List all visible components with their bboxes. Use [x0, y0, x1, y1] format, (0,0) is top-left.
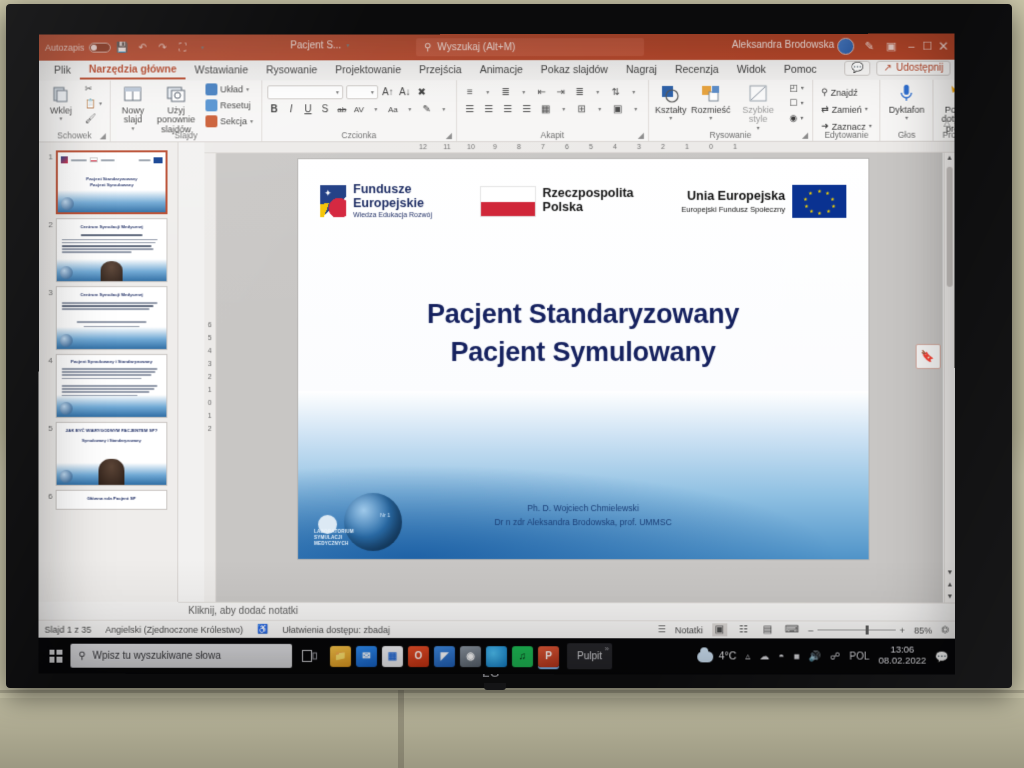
line-spacing-icon[interactable]: ≣ [572, 86, 588, 99]
rysowanie-dialog-launcher-icon[interactable]: ◢ [802, 131, 808, 140]
system-tray: 4°C ▵ ☁ ◓ ■ 🔊 ☍ POL 13:06 08.02.2022 💬 [698, 645, 955, 667]
select-chevron-down-icon[interactable]: ▾ [869, 123, 872, 130]
snipping-tool-icon[interactable]: ◤ [434, 646, 455, 667]
justify-icon[interactable]: ☰ [519, 103, 535, 116]
logo-rzeczpospolita-polska: Rzeczpospolita Polska [480, 185, 634, 216]
character-spacing-chevron-down-icon[interactable]: ▾ [369, 102, 383, 116]
minimize-button[interactable]: – [904, 40, 918, 54]
tab-widok[interactable]: Widok [728, 62, 775, 78]
zoom-in-button[interactable]: + [900, 625, 905, 635]
language-status[interactable]: Angielski (Zjednoczone Królestwo) [105, 624, 243, 634]
thumbnail-number: 2 [43, 218, 53, 229]
present-icon[interactable]: ⛶ [175, 40, 190, 55]
font-size-input[interactable]: ▾ [346, 85, 378, 99]
ruler-tick: 9 [483, 144, 507, 151]
new-slide-label: Nowy slajd [119, 106, 147, 125]
quick-styles-button[interactable]: Szybkie style ▾ [734, 82, 783, 133]
notes-toggle-icon[interactable]: ☰ [658, 624, 666, 635]
current-slide[interactable]: ✦ Fundusze Europejskie Wiedza Edukacja R… [298, 159, 869, 560]
section-chevron-down-icon[interactable]: ▾ [250, 118, 253, 125]
reuse-slides-icon [166, 83, 186, 105]
replace-chevron-down-icon[interactable]: ▾ [865, 106, 868, 113]
laboratorium-logo: Nr 1 LABORATORIUMSYMULACJIMEDYCZNYCH [310, 491, 430, 551]
shape-effects-chevron-down-icon[interactable]: ▾ [800, 115, 803, 122]
tab-recenzja[interactable]: Recenzja [666, 62, 728, 78]
numbering-icon[interactable]: ≣ [498, 86, 514, 99]
share-icon: ↗ [884, 63, 892, 74]
logo-badge: Nr 1 [380, 513, 390, 519]
ruler-tick: 0 [699, 143, 723, 150]
ribbon-group-label-czcionka: Czcionka ◢ [262, 130, 456, 140]
ribbon-group-label-rysowanie: Rysowanie ◢ [649, 130, 812, 140]
scroll-up-button[interactable]: ▲ [945, 153, 955, 164]
align-center-icon[interactable]: ☰ [481, 103, 497, 116]
ruler-tick: 12 [411, 144, 435, 151]
section-icon [205, 115, 217, 127]
find-button[interactable]: ⚲Znajdź [818, 86, 875, 99]
accessibility-status[interactable]: Ułatwienia dostępu: zbadaj [282, 624, 390, 634]
fit-to-window-icon[interactable]: ⏣ [941, 625, 949, 636]
tab-projektowanie[interactable]: Projektowanie [326, 62, 410, 78]
zoom-slider[interactable]: – + [808, 625, 905, 635]
font-color-icon[interactable]: ✎ [420, 102, 434, 116]
undo-icon[interactable]: ↶ [135, 40, 150, 55]
document-title-text: Pacjent S... [290, 40, 341, 51]
thumbnail-title: Pacjent Symulowany i Standaryzowany [61, 359, 163, 364]
ruler-tick: 8 [507, 144, 531, 151]
align-left-icon[interactable]: ☰ [462, 103, 478, 116]
quick-styles-label: Szybkie style [737, 106, 780, 125]
paste-button[interactable]: Wklej ▾ [44, 83, 78, 125]
shadow-icon[interactable]: S [318, 102, 332, 116]
weather-temperature: 4°C [719, 650, 737, 662]
search-icon: ⚲ [424, 42, 431, 53]
task-view-button[interactable] [294, 643, 324, 669]
reuse-slides-button[interactable]: Użyj ponownie slajdów [154, 82, 198, 135]
fundusze-line1: Fundusze [353, 183, 432, 196]
replace-button[interactable]: ⇄Zamień▾ [818, 103, 875, 116]
ribbon-group-akapit: ≡▾ ≣▾ ⇤ ⇥ ≣▾ ⇅▾ ☰ ☰ ☰ ☰ ▦▾ ⊞▾ ▣▾ [456, 80, 648, 141]
tab-narzedzia-glowne[interactable]: Narzędzia główne [80, 61, 186, 79]
taskbar-window-label: Pulpit [577, 651, 602, 662]
font-name-input[interactable]: ▾ [267, 85, 343, 99]
document-title[interactable]: Pacjent S... ▾ [290, 40, 349, 51]
ribbon-group-label-slajdy: Slajdy [111, 130, 261, 140]
polska-line1: Rzeczpospolita [543, 187, 634, 201]
grow-font-icon[interactable]: A↑ [381, 85, 395, 99]
thumbnail-number: 6 [43, 490, 53, 501]
thumbnail-number: 4 [43, 354, 53, 365]
slide-thumbnail-pane[interactable]: 1 Pacjent StandaryzowanyPacjent Symulowa… [39, 142, 179, 601]
shape-effects-button[interactable]: ◉▾ [787, 112, 808, 125]
thumbnail-number: 5 [43, 422, 53, 433]
shapes-label: Kształty [655, 106, 687, 115]
ruler-tick: 10 [459, 144, 483, 151]
ruler-tick: 3 [627, 143, 651, 150]
thumbnail-title: Centrum Symulacji Medycznej [61, 224, 163, 230]
microsoft-store-icon[interactable]: ▦ [382, 646, 403, 667]
notes-toggle-label[interactable]: Notatki [675, 625, 703, 635]
clock[interactable]: 13:06 08.02.2022 [878, 646, 926, 668]
search-input[interactable]: ⚲ Wyszukaj (Alt+M) [416, 38, 644, 56]
thumbnail-subtitle: Symulowany i Standaryzowany [61, 438, 163, 443]
shrink-font-icon[interactable]: A↓ [398, 85, 412, 99]
vruler-tick: 2 [208, 374, 212, 381]
ribbon-group-label-glos: Głos [881, 130, 933, 140]
thumbnail-title: JAK BYĆ WIARYGODNYM PACJENTEM SP? [61, 428, 163, 434]
thumbnail-slide-6[interactable]: Główna rola Pacjent SP [56, 490, 168, 510]
zoom-out-button[interactable]: – [808, 625, 813, 635]
numbering-chevron-down-icon[interactable]: ▾ [517, 85, 531, 99]
maximize-button[interactable]: ☐ [920, 40, 934, 54]
quick-styles-icon [748, 83, 768, 105]
reset-icon [205, 99, 217, 111]
unia-line1: Unia Europejska [681, 188, 785, 202]
find-label: Znajdź [831, 87, 858, 97]
ribbon-group-label-edytowanie: Edytowanie [813, 130, 880, 140]
italic-icon[interactable]: I [284, 102, 298, 116]
ribbon-group-projektant: Pomysły dotyczące projektu Projektant [932, 80, 955, 141]
fundusze-europejskie-mark-icon: ✦ [320, 185, 346, 217]
vruler-tick: 4 [208, 348, 212, 355]
ruler-tick: 11 [435, 144, 459, 151]
bold-icon[interactable]: B [267, 102, 281, 116]
new-slide-button[interactable]: Nowy slajd ▾ [116, 82, 150, 133]
logo-unia-europejska: Unia Europejska Europejski Fundusz Społe… [681, 184, 846, 217]
format-painter-icon: 🖌 [85, 113, 96, 124]
cut-button[interactable]: ✂ [82, 83, 105, 96]
wifi-icon[interactable]: ◓ [778, 651, 784, 662]
horizontal-ruler[interactable]: 12 11 10 9 8 7 6 5 4 3 2 1 0 1 [204, 142, 954, 154]
onedrive-icon[interactable]: ☁ [759, 651, 769, 662]
volume-icon[interactable]: 🔊 [809, 651, 821, 662]
ruler-tick: 5 [579, 144, 603, 151]
fundusze-subtitle: Wiedza Edukacja Rozwój [353, 212, 432, 219]
thumbnail-slide-1[interactable]: Pacjent StandaryzowanyPacjent Symulowany [56, 150, 168, 214]
shapes-button[interactable]: Kształty ▾ [654, 82, 688, 124]
avatar[interactable] [837, 38, 854, 55]
comments-button[interactable]: 💬 [844, 61, 871, 76]
slide-counter[interactable]: Slajd 1 z 35 [45, 624, 92, 634]
replace-label: Zamień [832, 104, 862, 114]
scroll-down-button[interactable]: ▼ [945, 567, 955, 578]
design-ideas-icon [950, 83, 955, 105]
polska-line2: Polska [543, 201, 634, 215]
polish-flag-icon [480, 186, 536, 217]
slide-title-line2: Pacjent Symulowany [298, 333, 868, 371]
thumbnail-title: Główna rola Pacjent SP [61, 496, 163, 502]
battery-icon[interactable]: ■ [794, 651, 800, 662]
ribbon-group-edytowanie: ⚲Znajdź ⇄Zamień▾ ➜Zaznacz▾ Edytowanie [812, 80, 880, 141]
ribbon-group-label-schowek: Schowek ◢ [39, 130, 110, 140]
microsoft-edge-icon[interactable] [486, 646, 507, 667]
character-spacing-icon[interactable]: AV [352, 102, 366, 116]
change-case-chevron-down-icon[interactable]: ▾ [403, 102, 417, 116]
thumbnail-item-4[interactable]: 4 Pacjent Symulowany i Standaryzowany [39, 350, 178, 418]
show-hidden-icons-chevron-up-icon[interactable]: ▵ [745, 651, 750, 662]
dictate-button[interactable]: Dyktafon ▾ [886, 82, 928, 124]
logo-fundusze-europejskie: ✦ Fundusze Europejskie Wiedza Edukacja R… [320, 183, 432, 219]
tab-pomoc[interactable]: Pomoc [775, 62, 826, 78]
layout-chevron-down-icon[interactable]: ▾ [246, 86, 249, 93]
ruler-tick: 1 [723, 143, 747, 150]
tab-wstawianie[interactable]: Wstawianie [186, 62, 258, 78]
camera-icon[interactable]: ◉ [460, 646, 481, 667]
keyboard-layout[interactable]: POL [849, 651, 869, 662]
arrange-icon [700, 83, 722, 105]
shape-outline-chevron-down-icon[interactable]: ▾ [801, 100, 804, 107]
thumbnail-slide-3[interactable]: Centrum Symulacji Medycznej [56, 286, 168, 350]
schowek-dialog-launcher-icon[interactable]: ◢ [100, 131, 106, 140]
text-direction-icon[interactable]: ⇅ [608, 86, 624, 99]
tab-pokaz-slajdow[interactable]: Pokaz slajdów [532, 62, 617, 78]
taskbar-window-pulpit[interactable]: Pulpit » [567, 643, 612, 669]
search-icon: ⚲ [78, 650, 85, 661]
ribbon-group-label-akapit: Akapit ◢ [457, 130, 648, 140]
arrange-chevron-down-icon[interactable]: ▾ [709, 116, 712, 122]
ribbon-group-rysowanie: Kształty ▾ Rozmieść ▾ Szyb [648, 80, 812, 141]
office-icon[interactable]: O [408, 646, 429, 667]
bluetooth-icon[interactable]: ☍ [830, 651, 840, 662]
thumbnail-slide-5[interactable]: JAK BYĆ WIARYGODNYM PACJENTEM SP? Symulo… [56, 422, 168, 486]
save-icon[interactable]: 💾 [115, 40, 130, 55]
user-name: Aleksandra Brodowska [732, 40, 834, 51]
eu-flag-icon: ★ ★ ★ ★ ★ ★ ★ ★ ★ ★ [792, 184, 846, 217]
shape-fill-chevron-down-icon[interactable]: ▾ [801, 85, 804, 92]
tab-rysowanie[interactable]: Rysowanie [257, 62, 326, 78]
next-slide-button[interactable]: ▼ [945, 591, 955, 602]
slide-title[interactable]: Pacjent Standaryzowany Pacjent Symulowan… [298, 295, 868, 372]
slide-logo-bar: ✦ Fundusze Europejskie Wiedza Edukacja R… [320, 175, 846, 227]
notes-pane[interactable]: Kliknij, aby dodać notatki [178, 602, 955, 621]
line-spacing-chevron-down-icon[interactable]: ▾ [591, 85, 605, 99]
align-right-icon[interactable]: ☰ [500, 103, 516, 116]
thumbnail-item-5[interactable]: 5 JAK BYĆ WIARYGODNYM PACJENTEM SP? Symu… [39, 418, 178, 486]
dictate-chevron-down-icon[interactable]: ▾ [905, 116, 908, 122]
replace-icon: ⇄ [821, 104, 829, 115]
tab-plik[interactable]: Plik [45, 63, 80, 79]
thumbnail-item-1[interactable]: 1 Pacjent StandaryzowanyPacjent Symulowa… [39, 146, 178, 214]
layout-icon [205, 83, 217, 95]
arrange-label: Rozmieść [691, 106, 731, 115]
clock-date: 08.02.2022 [878, 657, 926, 668]
canvas-scrollbar[interactable]: ▲ ▼ ▲ ▼ [944, 153, 955, 603]
vruler-tick: 3 [208, 361, 212, 368]
zoom-knob[interactable] [866, 625, 869, 634]
reset-label: Resetuj [220, 100, 250, 110]
weather-widget[interactable]: 4°C [698, 650, 737, 662]
paste-icon [51, 84, 71, 106]
copy-icon: 📋 [85, 98, 96, 109]
copy-chevron-down-icon[interactable]: ▾ [99, 100, 102, 107]
vruler-tick: 2 [208, 426, 212, 433]
reset-button[interactable]: Resetuj [202, 98, 256, 112]
zoom-level[interactable]: 85% [914, 625, 932, 635]
slideshow-view-button[interactable]: ⌨ [784, 623, 799, 636]
dictate-label: Dyktafon [889, 106, 925, 115]
spotify-icon[interactable]: ♫ [512, 646, 533, 667]
change-case-icon[interactable]: Aa [386, 102, 400, 116]
shape-fill-button[interactable]: ◰▾ [787, 82, 808, 95]
thumbnail-number: 1 [43, 150, 53, 161]
paste-label: Wklej [50, 106, 72, 115]
autosave-label: Autozapis [45, 43, 84, 53]
underline-icon[interactable]: U [301, 102, 315, 116]
powerpoint-window: Autozapis 💾 ↶ ↷ ⛶ ▾ Pacjent S... ▾ ⚲ Wys… [39, 34, 955, 639]
taskbar-app-icons: 📁 ✉ ▦ O ◤ ◉ ♫ P [330, 645, 559, 666]
monitor-screen: Autozapis 💾 ↶ ↷ ⛶ ▾ Pacjent S... ▾ ⚲ Wys… [39, 34, 956, 675]
thumbnail-logos [61, 155, 163, 164]
start-button[interactable] [42, 643, 68, 669]
notes-placeholder: Kliknij, aby dodać notatki [188, 606, 298, 617]
unia-subtitle: Europejski Fundusz Społeczny [681, 204, 785, 213]
slide-sorter-view-button[interactable]: ☷ [736, 623, 751, 636]
ribbon-group-glos: Dyktafon ▾ Głos [880, 80, 933, 141]
ruler-tick: 1 [675, 143, 699, 150]
ribbon-display-options-icon[interactable]: ▣ [884, 40, 898, 54]
shape-fill-icon: ◰ [790, 83, 799, 94]
bullets-icon[interactable]: ≡ [462, 86, 478, 99]
layout-label: Układ [220, 84, 243, 94]
windows-taskbar: ⚲ Wpisz tu wyszukiwane słowa 📁 ✉ ▦ O ◤ ◉… [39, 638, 956, 675]
powerpoint-icon[interactable]: P [538, 646, 559, 667]
accessibility-icon: ♿ [257, 624, 268, 635]
shapes-chevron-down-icon[interactable]: ▾ [669, 116, 672, 122]
shape-outline-button[interactable]: ☐▾ [787, 97, 808, 110]
text-direction-chevron-down-icon[interactable]: ▾ [627, 85, 641, 99]
pen-icon[interactable]: ✎ [862, 40, 876, 54]
thumbnail-item-3[interactable]: 3 Centrum Symulacji Medycznej [39, 282, 178, 350]
fundusze-line2: Europejskie [353, 197, 432, 210]
thumbnail-number: 3 [43, 286, 53, 297]
columns-chevron-down-icon[interactable]: ▾ [557, 102, 571, 116]
bookmark-icon[interactable]: 🔖 [916, 344, 941, 369]
share-label: Udostępnij [896, 63, 943, 74]
strikethrough-icon[interactable]: ab [335, 102, 349, 116]
tab-nagraj[interactable]: Nagraj [617, 62, 666, 78]
vruler-tick: 6 [208, 322, 212, 329]
vruler-tick: 1 [208, 413, 212, 420]
convert-smartart-icon[interactable]: ▣ [610, 102, 626, 115]
autosave-switch[interactable] [88, 43, 110, 53]
customize-quick-access-icon[interactable]: ▾ [195, 40, 210, 55]
arrange-button[interactable]: Rozmieść ▾ [692, 82, 730, 124]
align-text-chevron-down-icon[interactable]: ▾ [593, 102, 607, 116]
convert-smartart-chevron-down-icon[interactable]: ▾ [629, 102, 643, 116]
overflow-chevron-icon[interactable]: » [605, 644, 609, 653]
decrease-indent-icon[interactable]: ⇤ [534, 86, 550, 99]
normal-view-button[interactable]: ▣ [712, 623, 727, 636]
microphone-icon [900, 83, 914, 105]
ribbon-tabs: Plik Narzędzia główne Wstawianie Rysowan… [39, 60, 955, 81]
cut-icon: ✂ [85, 84, 93, 95]
ribbon-group-czcionka: ▾ ▾ A↑ A↓ ✖ B I U S ab AV ▾ Aa [261, 80, 456, 141]
floor-shadow [0, 698, 1024, 768]
ribbon: Wklej ▾ ✂ 📋▾ 🖌 Schowek ◢ [39, 80, 955, 143]
collapse-ribbon-button[interactable]: △ [944, 118, 951, 129]
layout-button[interactable]: Układ ▾ [202, 82, 256, 96]
clear-formatting-icon[interactable]: ✖ [415, 85, 429, 99]
czcionka-dialog-launcher-icon[interactable]: ◢ [446, 131, 452, 140]
tab-przejscia[interactable]: Przejścia [410, 62, 471, 78]
cloud-icon [698, 651, 714, 662]
new-slide-icon [123, 83, 143, 105]
monitor-stand-nub [484, 683, 506, 690]
redo-icon[interactable]: ↷ [155, 40, 170, 55]
vruler-tick: 0 [208, 400, 212, 407]
share-button[interactable]: ↗ Udostępnij [877, 61, 951, 76]
bullets-chevron-down-icon[interactable]: ▾ [481, 85, 495, 99]
ribbon-group-schowek: Wklej ▾ ✂ 📋▾ 🖌 Schowek ◢ [39, 81, 110, 142]
shape-effects-icon: ◉ [790, 113, 798, 124]
notification-center-icon[interactable]: 💬 [935, 650, 949, 663]
monitor: LG Autozapis 💾 ↶ ↷ ⛶ ▾ [6, 4, 1012, 688]
search-icon: ⚲ [821, 87, 828, 98]
slide-canvas-area[interactable]: ✦ Fundusze Europejskie Wiedza Edukacja R… [216, 153, 943, 603]
taskbar-search-placeholder: Wpisz tu wyszukiwane słowa [93, 650, 221, 661]
font-color-chevron-down-icon[interactable]: ▾ [437, 102, 451, 116]
autosave-toggle[interactable]: Autozapis [45, 43, 110, 53]
slide-title-line1: Pacjent Standaryzowany [298, 295, 868, 333]
increase-indent-icon[interactable]: ⇥ [553, 86, 569, 99]
format-painter-button[interactable]: 🖌 [82, 112, 105, 125]
previous-slide-button[interactable]: ▲ [945, 579, 955, 590]
title-bar: Autozapis 💾 ↶ ↷ ⛶ ▾ Pacjent S... ▾ ⚲ Wys… [39, 34, 954, 61]
tab-animacje[interactable]: Animacje [471, 62, 532, 78]
close-button[interactable]: ✕ [936, 40, 950, 54]
status-bar: Slajd 1 z 35 Angielski (Zjednoczone Król… [39, 620, 955, 639]
mail-icon[interactable]: ✉ [356, 646, 377, 667]
vruler-tick: 1 [208, 387, 212, 394]
logo-text: LABORATORIUMSYMULACJIMEDYCZNYCH [314, 529, 354, 547]
ruler-tick: 6 [555, 144, 579, 151]
thumbnail-item-2[interactable]: 2 Centrum Symulacji Medycznej [39, 214, 178, 282]
zoom-track[interactable] [817, 629, 895, 630]
columns-icon[interactable]: ▦ [538, 103, 554, 116]
section-label: Sekcja [220, 116, 247, 126]
section-button[interactable]: Sekcja ▾ [202, 114, 256, 128]
scrollbar-thumb[interactable] [947, 167, 953, 287]
shapes-icon [660, 83, 682, 105]
paste-chevron-down-icon[interactable]: ▾ [59, 117, 62, 123]
ribbon-group-slajdy: Nowy slajd ▾ Użyj ponownie slajdów Układ [110, 80, 261, 141]
thumbnail-title: Centrum Symulacji Medycznej [61, 292, 163, 298]
comment-icon: 💬 [851, 63, 863, 74]
search-placeholder: Wyszukaj (Alt+M) [437, 42, 515, 53]
akapit-dialog-launcher-icon[interactable]: ◢ [638, 131, 644, 140]
thumbnail-slide-4[interactable]: Pacjent Symulowany i Standaryzowany [56, 354, 168, 418]
ruler-tick: 7 [531, 144, 555, 151]
thumbnail-item-6[interactable]: 6 Główna rola Pacjent SP [39, 486, 178, 510]
taskbar-search-input[interactable]: ⚲ Wpisz tu wyszukiwane słowa [70, 644, 292, 668]
vertical-ruler[interactable]: 6 5 4 3 2 1 0 1 2 [204, 153, 216, 602]
file-explorer-icon[interactable]: 📁 [330, 645, 351, 666]
copy-button[interactable]: 📋▾ [82, 97, 105, 110]
wall-seam [0, 690, 1024, 693]
document-title-chevron-down-icon[interactable]: ▾ [346, 42, 349, 49]
align-text-icon[interactable]: ⊞ [574, 103, 590, 116]
reading-view-button[interactable]: ▤ [760, 623, 775, 636]
windows-logo-icon [49, 649, 62, 662]
thumbnail-slide-2[interactable]: Centrum Symulacji Medycznej [56, 218, 168, 282]
ribbon-group-label-projektant: Projektant [933, 130, 955, 140]
vruler-tick: 5 [208, 335, 212, 342]
shape-outline-icon: ☐ [790, 98, 798, 109]
thumbnail-title: Pacjent StandaryzowanyPacjent Symulowany [62, 176, 162, 187]
ruler-tick: 2 [651, 143, 675, 150]
ruler-tick: 4 [603, 143, 627, 150]
